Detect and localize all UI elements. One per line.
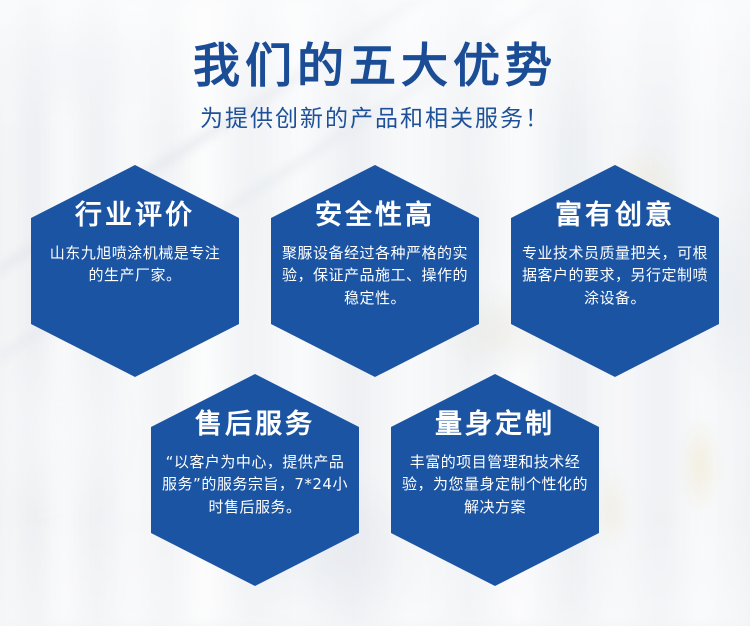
advantage-hexagon-1[interactable]: 行业评价 山东九旭喷涂机械是专注的生产厂家。 bbox=[31, 165, 239, 377]
advantage-body-2: 聚脲设备经过各种严格的实验，保证产品施工、操作的稳定性。 bbox=[281, 242, 469, 310]
page-title: 我们的五大优势 bbox=[0, 42, 750, 93]
advantage-body-3: 专业技术员质量把关，可根据客户的要求，另行定制喷涂设备。 bbox=[521, 242, 709, 310]
advantage-hexagon-4[interactable]: 售后服务 “以客户为中心，提供产品服务”的服务宗旨，7*24小时售后服务。 bbox=[151, 374, 359, 586]
heading-block: 我们的五大优势 为提供创新的产品和相关服务！ bbox=[0, 42, 750, 132]
advantage-hexagon-5[interactable]: 量身定制 丰富的项目管理和技术经验，为您量身定制个性化的解决方案 bbox=[391, 374, 599, 586]
advantage-hexagon-3[interactable]: 富有创意 专业技术员质量把关，可根据客户的要求，另行定制喷涂设备。 bbox=[511, 165, 719, 377]
advantage-title-3: 富有创意 bbox=[555, 201, 675, 231]
promo-banner: 我们的五大优势 为提供创新的产品和相关服务！ 行业评价 山东九旭喷涂机械是专注的… bbox=[0, 0, 750, 626]
advantage-body-5: 丰富的项目管理和技术经验，为您量身定制个性化的解决方案 bbox=[401, 451, 589, 519]
advantage-title-4: 售后服务 bbox=[195, 410, 315, 440]
advantage-title-5: 量身定制 bbox=[435, 410, 555, 440]
advantage-title-2: 安全性高 bbox=[315, 201, 435, 231]
advantage-title-1: 行业评价 bbox=[75, 201, 195, 231]
advantage-body-4: “以客户为中心，提供产品服务”的服务宗旨，7*24小时售后服务。 bbox=[161, 451, 349, 519]
page-subtitle: 为提供创新的产品和相关服务！ bbox=[0, 107, 750, 132]
advantage-hexagon-2[interactable]: 安全性高 聚脲设备经过各种严格的实验，保证产品施工、操作的稳定性。 bbox=[271, 165, 479, 377]
advantage-body-1: 山东九旭喷涂机械是专注的生产厂家。 bbox=[45, 242, 225, 287]
